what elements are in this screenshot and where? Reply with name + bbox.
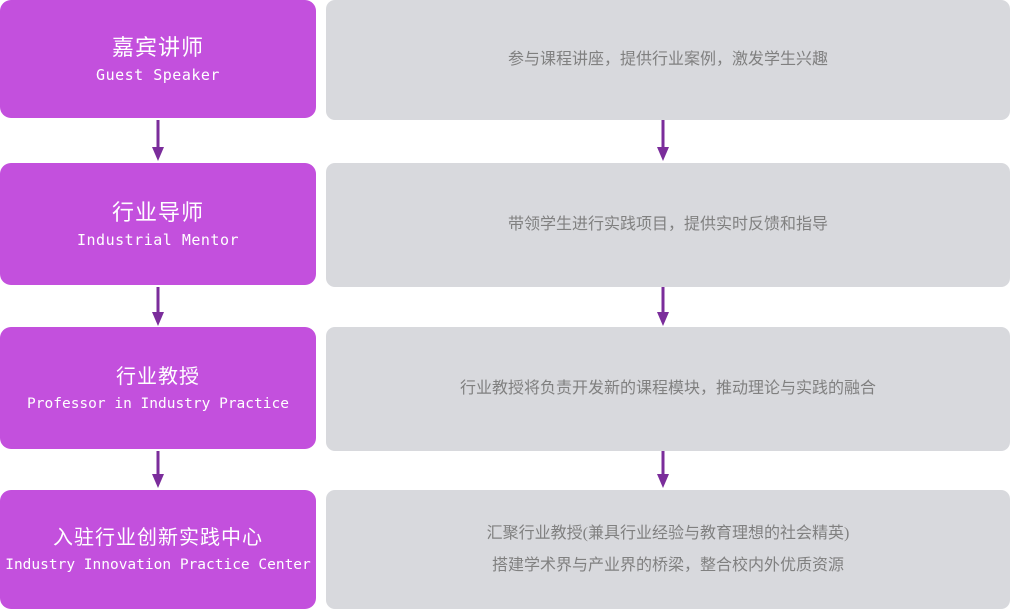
flow-row-1: 嘉宾讲师 Guest Speaker 参与课程讲座，提供行业案例，激发学生兴趣 — [0, 0, 1010, 118]
role-title-cn: 嘉宾讲师 — [112, 33, 204, 63]
role-box-professor-in-industry-practice[interactable]: 行业教授 Professor in Industry Practice — [0, 327, 316, 449]
connector-arrow-1-left — [148, 120, 168, 165]
description-box-guest-speaker[interactable]: 参与课程讲座，提供行业案例，激发学生兴趣 — [326, 0, 1010, 120]
role-box-guest-speaker[interactable]: 嘉宾讲师 Guest Speaker — [0, 0, 316, 118]
description-line: 参与课程讲座，提供行业案例，激发学生兴趣 — [508, 44, 828, 76]
description-line: 行业教授将负责开发新的课程模块，推动理论与实践的融合 — [460, 373, 876, 405]
description-box-industry-innovation-practice-center[interactable]: 汇聚行业教授(兼具行业经验与教育理想的社会精英) 搭建学术界与产业界的桥梁，整合… — [326, 490, 1010, 609]
role-title-cn: 入驻行业创新实践中心 — [53, 523, 263, 553]
flow-row-4: 入驻行业创新实践中心 Industry Innovation Practice … — [0, 490, 1010, 609]
arrow-down-icon — [148, 120, 168, 162]
role-box-industrial-mentor[interactable]: 行业导师 Industrial Mentor — [0, 163, 316, 285]
flow-row-3: 行业教授 Professor in Industry Practice 行业教授… — [0, 327, 1010, 449]
role-title-en: Industry Innovation Practice Center — [5, 554, 311, 576]
description-line: 带领学生进行实践项目，提供实时反馈和指导 — [508, 209, 828, 241]
arrow-down-icon — [148, 451, 168, 489]
description-line: 汇聚行业教授(兼具行业经验与教育理想的社会精英) — [487, 518, 850, 550]
role-title-en: Professor in Industry Practice — [27, 393, 289, 415]
flow-diagram: 嘉宾讲师 Guest Speaker 参与课程讲座，提供行业案例，激发学生兴趣 … — [0, 0, 1010, 609]
description-line: 搭建学术界与产业界的桥梁，整合校内外优质资源 — [492, 550, 844, 582]
connector-arrow-2-left — [148, 287, 168, 332]
role-box-industry-innovation-practice-center[interactable]: 入驻行业创新实践中心 Industry Innovation Practice … — [0, 490, 316, 609]
role-title-cn: 行业导师 — [112, 198, 204, 228]
role-title-cn: 行业教授 — [116, 362, 200, 392]
arrow-down-icon — [653, 287, 673, 327]
arrow-down-icon — [148, 287, 168, 327]
flow-row-2: 行业导师 Industrial Mentor 带领学生进行实践项目，提供实时反馈… — [0, 163, 1010, 285]
description-box-industrial-mentor[interactable]: 带领学生进行实践项目，提供实时反馈和指导 — [326, 163, 1010, 287]
connector-arrow-2-right — [653, 287, 673, 332]
arrow-down-icon — [653, 120, 673, 162]
arrow-down-icon — [653, 451, 673, 489]
connector-arrow-1-right — [653, 120, 673, 165]
role-title-en: Guest Speaker — [96, 64, 220, 86]
role-title-en: Industrial Mentor — [77, 229, 239, 251]
description-box-professor-in-industry-practice[interactable]: 行业教授将负责开发新的课程模块，推动理论与实践的融合 — [326, 327, 1010, 451]
